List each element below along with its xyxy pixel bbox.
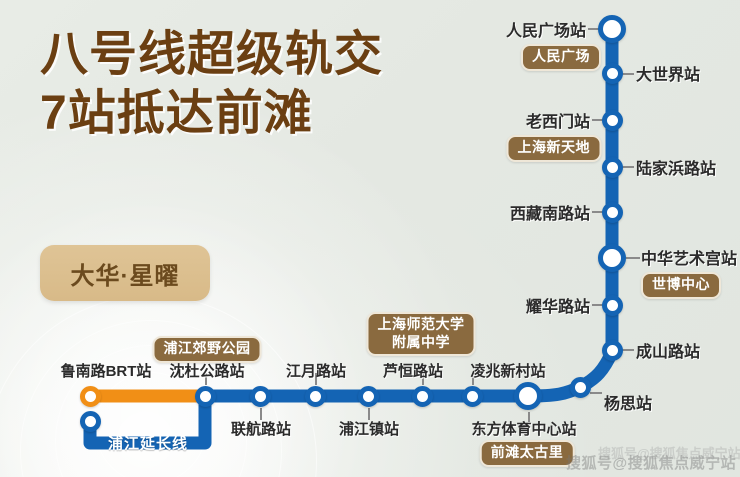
station-dot-pujiang-zhen[interactable] [358,386,379,407]
station-dot-jiangyue-lu[interactable] [305,386,326,407]
station-dot-laoximen[interactable] [602,110,623,131]
poi-badge-shida-fuzhong: 上海师范大学 附属中学 [367,312,476,356]
station-label-lingzhao-xincun: 凌兆新村站 [470,360,545,381]
station-dot-lujiabang-lu[interactable] [602,157,623,178]
poi-badge-qiantan-taikoo-li: 前滩太古里 [480,440,575,467]
station-dot-xizang-nan-lu[interactable] [602,202,623,223]
station-dot-luheng-lu[interactable] [412,386,433,407]
tick-yangsi [590,392,602,394]
station-label-yangsi: 杨思站 [604,390,652,414]
station-label-jiangyue-lu: 江月路站 [286,360,346,381]
station-label-dashijie: 大世界站 [636,61,700,85]
station-label-chengshan-lu: 成山路站 [636,338,700,362]
station-label-xizang-nan-lu: 西藏南路站 [510,200,590,224]
station-dot-zhonghua-yishu-gong[interactable] [598,244,626,272]
station-label-shendu-gonglu: 沈杜公路站 [169,360,244,381]
station-label-dongfang-tiyu-zhongxin: 东方体育中心站 [471,418,576,439]
poi-badge-shibo-zhongxin: 世博中心 [641,272,721,299]
station-dot-yaohua-lu[interactable] [602,295,623,316]
metro-map-poster: 八号线超级轨交 7站抵达前滩 大华·星曜 [0,0,740,477]
station-dot-yangsi[interactable] [570,377,591,398]
station-dot-dashijie[interactable] [602,63,623,84]
station-dot-shendu-gonglu[interactable] [195,386,216,407]
tick-lujiabang [622,166,634,168]
station-label-lianhang-lu: 联航路站 [231,418,291,439]
station-dot-lunan-lu-brt[interactable] [80,386,101,407]
station-label-renmin-guangchang: 人民广场站 [506,17,586,41]
station-dot-dongfang-tiyu-zhongxin[interactable] [514,382,542,410]
poi-shida-line-2: 附属中学 [392,334,450,350]
station-label-pujiang-zhen: 浦江镇站 [339,418,399,439]
poi-badge-renmin-guangchang: 人民广场 [521,44,601,71]
station-label-lujiabang-lu: 陆家浜路站 [636,155,716,179]
watermark-text-secondary: 搜狐号@搜狐焦点威宁站 [598,443,740,462]
station-dot-renmin-guangchang[interactable] [598,15,626,43]
station-label-zhonghua-yishu-gong: 中华艺术宫站 [641,245,737,269]
tick-dashijie [622,73,634,75]
poi-badge-xintiandi: 上海新天地 [507,135,602,162]
station-dot-chengshan-lu[interactable] [602,340,623,361]
poi-badge-pujiang-jiaoye-gongyuan: 浦江郊野公园 [153,336,262,363]
station-dot-lianhang-lu[interactable] [250,386,271,407]
tick-chengshan [622,349,634,351]
poi-shida-line-1: 上海师范大学 [378,316,465,332]
branch-line-label: 浦江延长线 [108,433,188,454]
station-label-lunan-lu-brt: 鲁南路BRT站 [61,360,152,381]
tick-zhonghua [626,257,640,259]
station-label-luheng-lu: 芦恒路站 [383,360,443,381]
station-label-yaohua-lu: 耀华路站 [526,293,590,317]
station-dot-branch-terminus[interactable] [80,411,101,432]
station-label-laoximen: 老西门站 [526,108,590,132]
station-dot-lingzhao-xincun[interactable] [462,386,483,407]
